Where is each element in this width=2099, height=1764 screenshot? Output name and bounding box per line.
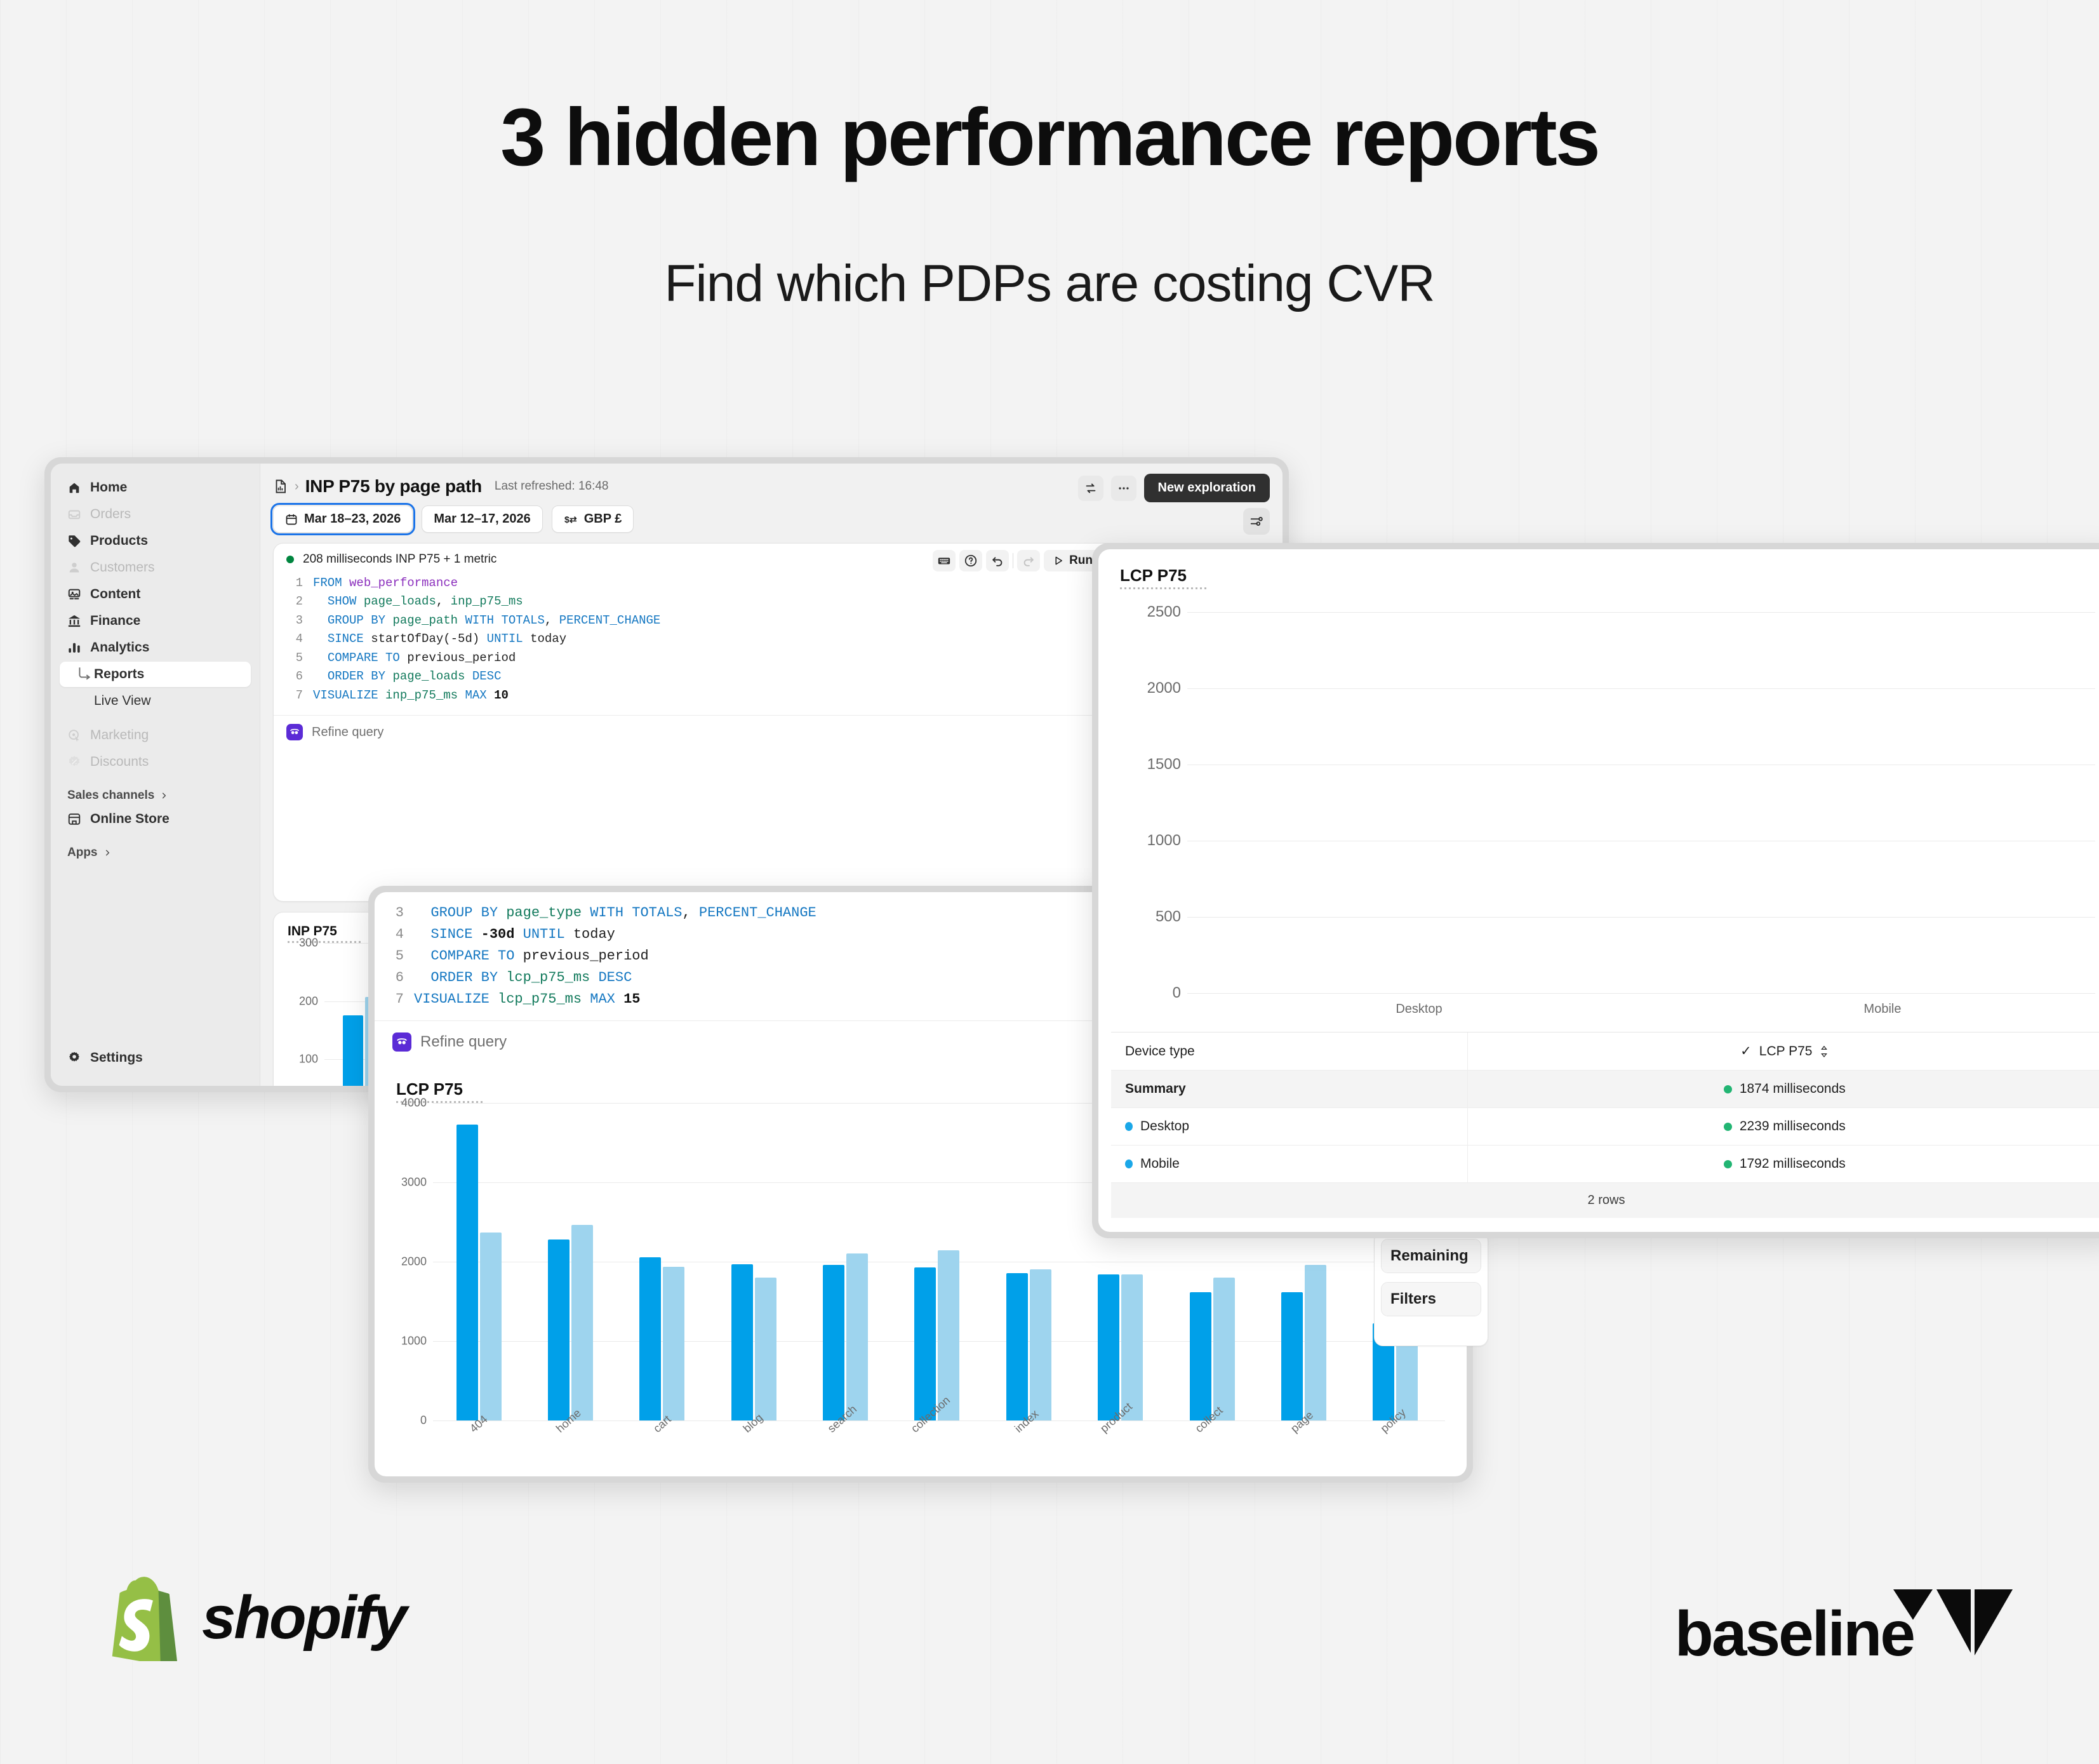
refresh-button[interactable]	[1078, 476, 1103, 501]
sidebar-item-label: Products	[90, 533, 148, 549]
compare-range-chip[interactable]: Mar 12–17, 2026	[422, 505, 542, 533]
bar-current[interactable]	[456, 1125, 478, 1420]
sidebar-item-label: Online Store	[90, 812, 170, 827]
sidebar-item-label: Analytics	[90, 640, 149, 655]
bar-group	[983, 1103, 1074, 1420]
online-store-icon	[67, 812, 81, 826]
y-tick: 2500	[1147, 603, 1181, 621]
gear-icon	[67, 1051, 81, 1065]
bar-group	[524, 1103, 616, 1420]
bar-current[interactable]	[548, 1239, 570, 1420]
x-tick: cart	[616, 1420, 708, 1475]
query-status-row: 208 milliseconds INP P75 + 1 metric	[274, 544, 1137, 570]
sidebar-item-label: Settings	[90, 1050, 143, 1066]
sidebar-item-customers[interactable]: Customers	[60, 555, 251, 580]
table-cell-value: 1874 milliseconds	[1468, 1071, 2099, 1107]
sidebar-item-settings[interactable]: Settings	[60, 1045, 251, 1071]
sidebar-item-analytics[interactable]: Analytics	[60, 635, 251, 660]
bar-previous[interactable]	[1030, 1269, 1051, 1420]
help-button[interactable]	[959, 550, 982, 571]
bar-group	[616, 1103, 708, 1420]
sidebar-item-discounts[interactable]: Discounts	[60, 749, 251, 775]
code-line: 2 SHOW page_loads, inp_p75_ms	[286, 592, 1124, 611]
date-range-chip[interactable]: Mar 18–23, 2026	[273, 505, 413, 533]
sidebar-item-live-view[interactable]: Live View	[60, 688, 251, 714]
refine-query-row[interactable]: Refine query	[274, 715, 1137, 749]
bar-previous[interactable]	[755, 1278, 776, 1420]
y-tick: 500	[1156, 908, 1181, 926]
device-chart-card: LCP P75	[1098, 549, 2099, 589]
remaining-label: Remaining	[1382, 1239, 1481, 1273]
sidebar-item-online-store[interactable]: Online Store	[60, 806, 251, 832]
bar-previous[interactable]	[1121, 1274, 1143, 1420]
sidebar-item-label: Content	[90, 587, 140, 602]
undo-icon	[990, 554, 1004, 568]
shopify-bag-icon	[108, 1575, 184, 1661]
marketing-icon	[67, 728, 81, 742]
x-tick: Mobile	[1651, 993, 2099, 1017]
device-data-table: Device type ✓ LCP P75 Summary1874 millis…	[1111, 1032, 2099, 1218]
table-col-device-type: Device type	[1111, 1032, 1468, 1070]
sidebar-item-label: Live View	[94, 693, 151, 709]
cell-value: 1792 milliseconds	[1740, 1156, 1846, 1172]
chevron-right-icon	[159, 791, 168, 800]
bar-group	[433, 1103, 524, 1420]
sidebar-item-products[interactable]: Products	[60, 528, 251, 554]
status-dot	[286, 556, 294, 563]
help-circle-icon	[964, 554, 978, 568]
refine-query-input[interactable]: Refine query	[312, 725, 383, 740]
code-line: 1FROM web_performance	[286, 574, 1124, 592]
panel-fragment-remaining-filters: Remaining Filters	[1374, 1232, 1488, 1346]
y-tick: 1500	[1147, 756, 1181, 773]
finance-icon	[67, 614, 81, 628]
bar-previous[interactable]	[663, 1267, 684, 1421]
sidebar-item-label: Discounts	[90, 754, 149, 770]
x-tick: home	[524, 1420, 616, 1475]
products-icon	[67, 534, 81, 548]
undo-button[interactable]	[986, 550, 1009, 571]
last-refreshed-text: Last refreshed: 16:48	[495, 479, 609, 493]
device-plot: 05001000150020002500	[1117, 612, 2095, 993]
bar-current[interactable]	[914, 1267, 936, 1420]
query-editor-card: 208 milliseconds INP P75 + 1 metric	[273, 543, 1138, 902]
code-line: 4 SINCE startOfDay(-5d) UNTIL today	[286, 630, 1124, 648]
x-tick: Desktop	[1187, 993, 1651, 1017]
sidebar-group-sales-channels[interactable]: Sales channels	[60, 789, 251, 803]
device-x-axis: DesktopMobile	[1187, 993, 2099, 1017]
y-tick: 200	[299, 994, 318, 1008]
run-label: Run	[1069, 554, 1093, 568]
shopify-logo: shopify	[108, 1575, 405, 1661]
date-range-label: Mar 18–23, 2026	[304, 512, 401, 526]
row-label: Mobile	[1140, 1156, 1180, 1172]
y-axis: 01000200030004000	[396, 1103, 433, 1420]
x-tick: index	[983, 1420, 1074, 1475]
filters-group: Filters	[1381, 1282, 1481, 1316]
x-tick: 404	[433, 1420, 524, 1475]
x-tick: product	[1075, 1420, 1166, 1475]
row-label: Summary	[1125, 1081, 1186, 1097]
x-tick: policy	[1350, 1420, 1441, 1475]
status-dot	[1724, 1160, 1732, 1168]
y-tick: 1000	[401, 1335, 427, 1348]
bar-current[interactable]	[731, 1264, 753, 1420]
bar-current[interactable]	[343, 1015, 364, 1086]
y-tick: 3000	[401, 1176, 427, 1189]
sidebar-item-marketing[interactable]: Marketing	[60, 723, 251, 748]
table-row[interactable]: Mobile1792 milliseconds	[1111, 1146, 2099, 1183]
keyboard-shortcuts-button[interactable]	[933, 550, 956, 571]
status-dot	[1724, 1085, 1732, 1093]
filter-chip-bar: Mar 18–23, 2026 Mar 12–17, 2026 $⇄ GBP £	[273, 505, 1270, 533]
bar-group	[708, 1103, 799, 1420]
code-line: 7VISUALIZE inp_p75_ms MAX 10	[286, 686, 1124, 705]
bar-current[interactable]	[1098, 1274, 1119, 1420]
filter-settings-button[interactable]	[1243, 508, 1270, 535]
bar-previous[interactable]	[1213, 1278, 1235, 1420]
analytics-icon	[67, 641, 81, 655]
currency-chip[interactable]: $⇄ GBP £	[552, 505, 634, 533]
bar-area	[1187, 612, 2095, 993]
report-file-icon	[273, 478, 288, 495]
sales-channels-label: Sales channels	[67, 789, 154, 803]
gridline	[1187, 993, 2095, 994]
table-cell-device: Mobile	[1111, 1146, 1468, 1182]
table-col-lcp-label: LCP P75	[1759, 1044, 1813, 1059]
apps-label: Apps	[67, 846, 98, 860]
sort-icon	[1820, 1045, 1829, 1058]
bar-current[interactable]	[1281, 1292, 1303, 1421]
bar-previous[interactable]	[846, 1253, 868, 1421]
bar-group	[799, 1103, 891, 1420]
window1-top-actions: New exploration	[1078, 474, 1270, 502]
currency-label: GBP £	[584, 512, 622, 526]
lcp-x-axis: 404homecartblogsearchcollectionindexprod…	[433, 1420, 1441, 1475]
y-tick: 0	[1173, 984, 1181, 1002]
remaining-group: Remaining	[1381, 1239, 1481, 1273]
bar-group	[891, 1103, 983, 1420]
check-icon: ✓	[1740, 1043, 1752, 1059]
series-dot	[1125, 1122, 1133, 1131]
x-tick: page	[1258, 1420, 1349, 1475]
baseline-logo: baseline	[1675, 1584, 2016, 1664]
toolbar-divider	[1013, 553, 1013, 568]
table-cell-device: Summary	[1111, 1071, 1468, 1107]
table-row[interactable]: Desktop2239 milliseconds	[1111, 1108, 2099, 1146]
poster-canvas: 3 hidden performance reports Find which …	[0, 0, 2099, 1764]
sidebar-item-label: Finance	[90, 613, 140, 629]
sidebar-item-orders[interactable]: Orders	[60, 502, 251, 527]
sidebar-item-label: Orders	[90, 507, 131, 522]
table-row[interactable]: Summary1874 milliseconds	[1111, 1071, 2099, 1108]
table-cell-value: 2239 milliseconds	[1468, 1108, 2099, 1145]
chart-title-underline-3	[1120, 587, 1206, 589]
sidebar-item-label: Home	[90, 480, 127, 495]
y-tick: 100	[299, 1053, 318, 1066]
table-cell-device: Desktop	[1111, 1108, 1468, 1145]
filters-label: Filters	[1382, 1283, 1481, 1316]
new-exploration-button[interactable]: New exploration	[1144, 474, 1270, 502]
sidebar-item-label: Marketing	[90, 728, 149, 743]
assistant-avatar-icon	[392, 1032, 411, 1052]
table-col-lcp-p75[interactable]: ✓ LCP P75	[1468, 1032, 2099, 1070]
breadcrumb-separator: ›	[295, 479, 299, 494]
status-dot	[1724, 1123, 1732, 1131]
cell-value: 2239 milliseconds	[1740, 1119, 1846, 1134]
sliders-icon	[1249, 514, 1263, 528]
bar-current[interactable]	[823, 1265, 844, 1421]
y-tick: 4000	[401, 1097, 427, 1110]
cell-value: 1874 milliseconds	[1740, 1081, 1846, 1097]
bar-previous[interactable]	[480, 1233, 502, 1420]
y-tick: 0	[420, 1414, 427, 1427]
query-status-text: 208 milliseconds INP P75 + 1 metric	[303, 552, 496, 566]
bar-current[interactable]	[1190, 1292, 1211, 1421]
admin-sidebar: Home Orders Products Customers	[51, 464, 260, 1086]
customers-icon	[67, 561, 81, 575]
svg-text:$⇄: $⇄	[564, 515, 577, 525]
bar-current[interactable]	[1006, 1273, 1028, 1421]
refresh-icon	[1084, 481, 1098, 495]
play-icon	[1053, 555, 1064, 566]
sidebar-item-finance[interactable]: Finance	[60, 608, 251, 634]
currency-swap-icon: $⇄	[564, 513, 578, 526]
table-body: Summary1874 millisecondsDesktop2239 mill…	[1111, 1071, 2099, 1183]
page-title: 3 hidden performance reports	[0, 95, 2099, 180]
report-title: INP P75 by page path	[305, 476, 482, 497]
query-code-block[interactable]: 1FROM web_performance2 SHOW page_loads, …	[274, 570, 1137, 715]
discounts-icon	[67, 755, 81, 769]
orders-icon	[67, 507, 81, 521]
y-tick: 2000	[1147, 679, 1181, 697]
sidebar-item-home[interactable]: Home	[60, 475, 251, 500]
bar-current[interactable]	[639, 1257, 661, 1421]
refine-query-input-2[interactable]: Refine query	[420, 1033, 507, 1051]
x-tick: search	[799, 1420, 891, 1475]
content-icon	[67, 587, 81, 601]
keyboard-icon	[937, 554, 951, 568]
redo-icon	[1022, 554, 1036, 568]
table-footer: 2 rows	[1111, 1183, 2099, 1218]
x-tick: collection	[891, 1420, 983, 1475]
row-label: Desktop	[1140, 1119, 1189, 1134]
tree-branch-icon	[76, 665, 93, 682]
baseline-wordmark: baseline	[1675, 1604, 1914, 1664]
redo-button[interactable]	[1017, 550, 1040, 571]
more-options-button[interactable]	[1111, 476, 1136, 501]
sidebar-item-label: Customers	[90, 560, 155, 575]
chevron-right-icon	[103, 848, 112, 857]
page-subtitle: Find which PDPs are costing CVR	[0, 254, 2099, 314]
sidebar-item-label: Reports	[94, 667, 144, 682]
baseline-mark-icon	[1889, 1584, 2016, 1660]
code-line: 3 GROUP BY page_path WITH TOTALS, PERCEN…	[286, 611, 1124, 630]
code-line: 5 COMPARE TO previous_period	[286, 649, 1124, 667]
compare-range-label: Mar 12–17, 2026	[434, 512, 530, 526]
shopify-wordmark: shopify	[202, 1583, 405, 1653]
y-tick: 1000	[1147, 832, 1181, 850]
series-dot	[1125, 1159, 1133, 1168]
sidebar-group-apps[interactable]: Apps	[60, 846, 251, 860]
sidebar-item-content[interactable]: Content	[60, 582, 251, 607]
y-tick: 2000	[401, 1255, 427, 1269]
x-tick: collect	[1166, 1420, 1258, 1475]
chart-title-3: LCP P75	[1120, 566, 2093, 585]
assistant-avatar-icon	[286, 724, 303, 740]
calendar-icon	[285, 513, 298, 526]
more-horizontal-icon	[1117, 481, 1131, 495]
home-icon	[67, 481, 81, 495]
y-tick: 300	[299, 937, 318, 950]
y-axis: 05001000150020002500	[1117, 612, 1187, 993]
y-axis: 0100200300	[288, 943, 324, 1086]
table-header-row: Device type ✓ LCP P75	[1111, 1032, 2099, 1071]
bar-previous[interactable]	[1305, 1265, 1326, 1420]
bar-previous[interactable]	[571, 1225, 593, 1421]
code-line: 6 ORDER BY page_loads DESC	[286, 667, 1124, 686]
x-tick: blog	[708, 1420, 799, 1475]
table-cell-value: 1792 milliseconds	[1468, 1146, 2099, 1182]
lcp-device-type-window: LCP P75 05001000150020002500 DesktopMobi…	[1092, 543, 2099, 1238]
